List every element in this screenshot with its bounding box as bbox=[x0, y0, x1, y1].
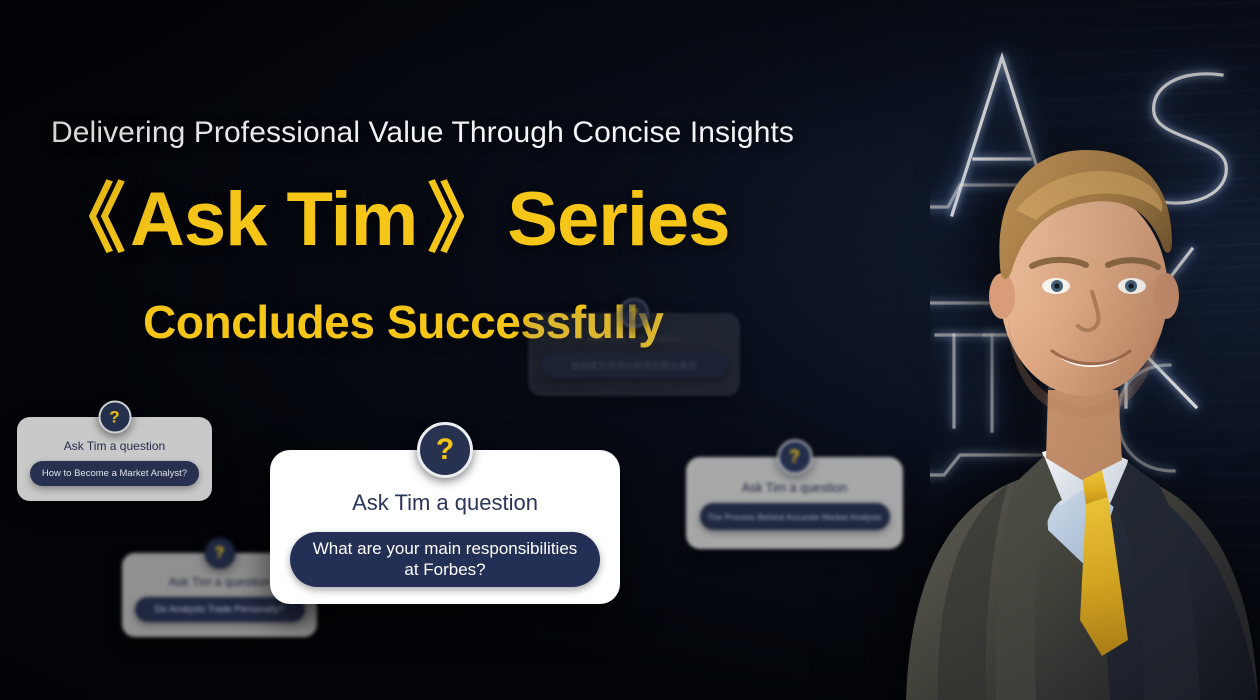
promo-banner-stage: Delivering Professional Value Through Co… bbox=[0, 0, 1260, 700]
page-kicker: Delivering Professional Value Through Co… bbox=[51, 116, 794, 150]
question-card-top-center[interactable]: ? Ask Tim a question 如何成为市场分析师的职业路径 bbox=[528, 313, 740, 396]
question-card-main[interactable]: ? Ask Tim a question What are your main … bbox=[270, 450, 620, 604]
question-mark-icon: ? bbox=[98, 401, 131, 434]
card-question-chip[interactable]: How to Become a Market Analyst? bbox=[30, 461, 199, 486]
card-question-chip[interactable]: What are your main responsibilities at F… bbox=[290, 532, 600, 587]
card-prompt-label: Ask Tim a question bbox=[169, 575, 270, 589]
card-question-chip[interactable]: The Process Behind Accurate Market Analy… bbox=[700, 503, 890, 530]
question-card-left[interactable]: ? Ask Tim a question How to Become a Mar… bbox=[17, 417, 212, 501]
card-prompt-label: Ask Tim a question bbox=[742, 481, 848, 495]
question-card-right[interactable]: ? Ask Tim a question The Process Behind … bbox=[686, 457, 903, 549]
title-bracket-close: 》 bbox=[427, 182, 497, 258]
card-question-chip[interactable]: 如何成为市场分析师的职业路径 bbox=[541, 352, 727, 378]
question-mark-icon: ? bbox=[619, 298, 649, 328]
title-suffix: Series bbox=[507, 177, 729, 262]
neon-letters-backdrop bbox=[930, 35, 1260, 505]
title-bracket-open: 《 bbox=[50, 182, 120, 258]
card-prompt-label: Ask Tim a question bbox=[588, 333, 681, 345]
neon-letter-t-icon bbox=[930, 35, 1260, 505]
question-mark-icon: ? bbox=[417, 422, 473, 478]
page-title: 《Ask Tim》Series bbox=[50, 182, 729, 258]
title-main: Ask Tim bbox=[130, 177, 417, 262]
card-prompt-label: Ask Tim a question bbox=[64, 439, 165, 453]
question-mark-icon: ? bbox=[204, 538, 235, 569]
card-prompt-label: Ask Tim a question bbox=[352, 490, 538, 516]
question-mark-icon: ? bbox=[777, 440, 812, 475]
